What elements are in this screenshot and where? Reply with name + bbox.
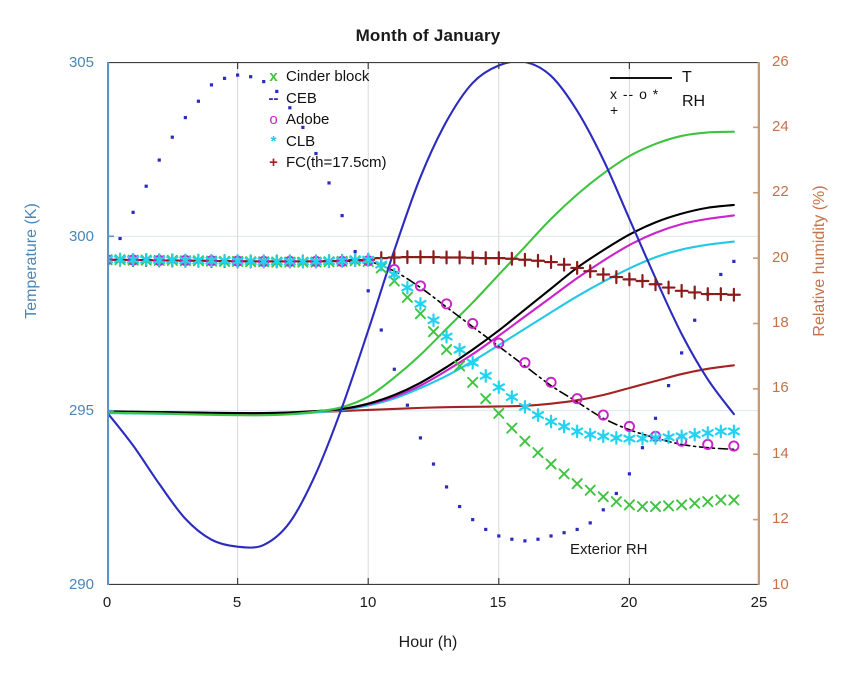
- legend-marker-circle-icon: o: [265, 111, 282, 128]
- legend-label-clb: CLB: [286, 133, 315, 150]
- y-axis-right-tick-16: 16: [772, 379, 812, 396]
- y-axis-right-tick-14: 14: [772, 445, 812, 462]
- legend-item-humidity: x -- o * + RH: [610, 90, 705, 114]
- legend-marker-plus-icon: +: [265, 154, 282, 171]
- y-axis-left-tick-295: 295: [48, 402, 94, 419]
- y-axis-right-tick-24: 24: [772, 118, 812, 135]
- legend-item-adobe: o Adobe: [265, 109, 386, 131]
- x-axis-title: Hour (h): [0, 634, 856, 652]
- y-axis-right-tick-22: 22: [772, 183, 812, 200]
- annotation-exterior-rh: Exterior RH: [570, 541, 648, 558]
- chart-title: Month of January: [0, 26, 856, 46]
- legend-label-fc: FC(th=17.5cm): [286, 154, 386, 171]
- y-axis-left-title: Temperature (K): [23, 61, 41, 461]
- x-axis-tick-5: 5: [217, 594, 257, 611]
- legend-item-ceb: -- CEB: [265, 88, 386, 110]
- y-axis-right-title: Relative humidity (%): [811, 61, 829, 461]
- legend-item-cinder-block: x Cinder block: [265, 66, 386, 88]
- y-axis-right-tick-12: 12: [772, 510, 812, 527]
- legend-solid-line-icon: [610, 77, 672, 79]
- legend-marker-x-icon: x: [265, 68, 282, 85]
- y-axis-right-tick-10: 10: [772, 576, 812, 593]
- legend-quantities: T x -- o * + RH: [610, 66, 705, 114]
- legend-label-adobe: Adobe: [286, 111, 329, 128]
- y-axis-left-tick-290: 290: [48, 576, 94, 593]
- chart-figure: Month of January Temperature (K) Relativ…: [0, 0, 856, 674]
- plot-area: [107, 62, 760, 585]
- legend-item-clb: * CLB: [265, 131, 386, 153]
- legend-label-temperature: T: [682, 69, 692, 87]
- legend-label-humidity: RH: [682, 93, 705, 111]
- y-axis-left-tick-300: 300: [48, 228, 94, 245]
- legend-label-cinder-block: Cinder block: [286, 68, 369, 85]
- x-axis-tick-25: 25: [739, 594, 779, 611]
- x-axis-tick-15: 15: [478, 594, 518, 611]
- y-axis-right-tick-20: 20: [772, 249, 812, 266]
- y-axis-right-tick-18: 18: [772, 314, 812, 331]
- x-axis-tick-10: 10: [348, 594, 388, 611]
- legend-marker-star-icon: *: [265, 133, 282, 150]
- legend-marker-set-icon: x -- o * +: [610, 86, 672, 118]
- y-axis-left-tick-305: 305: [48, 54, 94, 71]
- x-axis-tick-20: 20: [609, 594, 649, 611]
- x-axis-tick-0: 0: [87, 594, 127, 611]
- legend-materials: x Cinder block -- CEB o Adobe * CLB + FC…: [265, 66, 386, 174]
- plot-svg: [107, 62, 760, 585]
- legend-marker-dash-icon: --: [265, 90, 282, 107]
- legend-item-fc: + FC(th=17.5cm): [265, 152, 386, 174]
- y-axis-right-tick-26: 26: [772, 53, 812, 70]
- legend-label-ceb: CEB: [286, 90, 317, 107]
